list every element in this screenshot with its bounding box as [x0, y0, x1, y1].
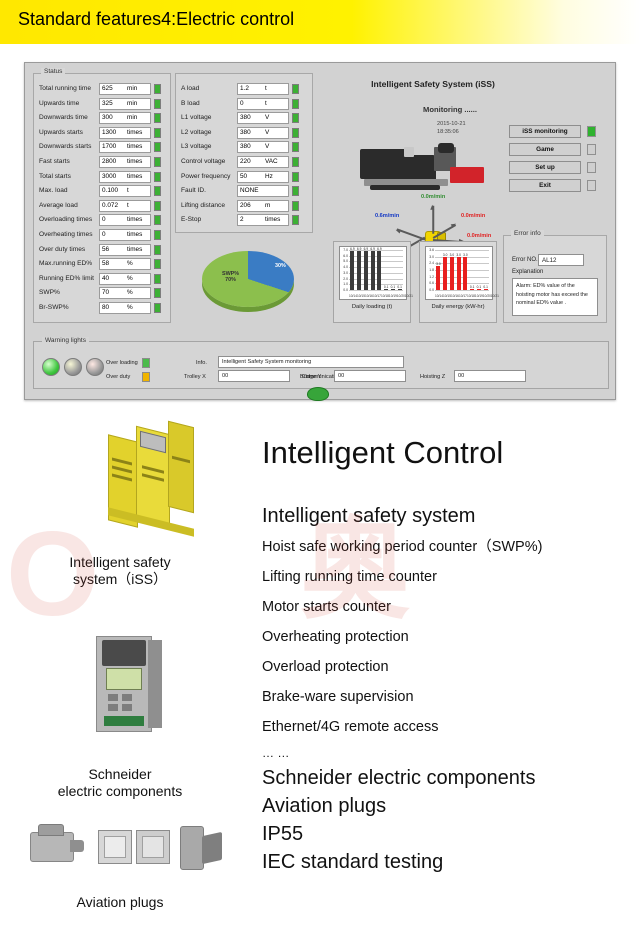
chart-x-tick: 10/19: [475, 294, 483, 298]
speed-label-right-up: 0.0m/min: [461, 213, 485, 219]
hmi-button-led: [587, 126, 596, 137]
chart-data-label: 3.0: [443, 253, 447, 257]
status-row-unit: m: [265, 202, 270, 209]
status-row-value: 40: [102, 275, 109, 282]
chart-data-label: 0.1: [384, 285, 388, 289]
title-banner: Standard features4:Electric control: [0, 0, 640, 44]
chart-bar: [364, 251, 368, 290]
status-row-value: 380: [240, 129, 251, 136]
coordinate-field[interactable]: 00: [218, 370, 290, 382]
status-row-label: L3 voltage: [181, 143, 211, 150]
daily-energy-plot: 3.63.02.41.81.20.60.03.03.03.03.03.00.10…: [425, 246, 493, 300]
status-row-label: Downwards starts: [39, 143, 91, 150]
status-row-led: [154, 303, 161, 313]
status-row-value: 0.072: [102, 202, 118, 209]
status-row-value: 380: [240, 114, 251, 121]
status-row-value: 58: [102, 260, 109, 267]
chart-y-tick: 3.0: [340, 271, 348, 275]
chart-x-tick: 10/17: [373, 294, 381, 298]
feature-ellipsis: … …: [262, 742, 634, 764]
chart-x-tick: 10/20: [483, 294, 491, 298]
status-row-led: [292, 172, 299, 182]
chart-bar: [457, 257, 461, 290]
status-row-led: [154, 259, 161, 269]
parameters-group: A load1.2tB load0tL1 voltage380VL2 volta…: [175, 73, 313, 233]
feature-item: Hoist safe working period counter（SWP%): [262, 532, 634, 562]
coordinate-label: Bridge Y: [300, 374, 321, 380]
status-row-label: E-Stop: [181, 216, 201, 223]
chart-data-label: 3.0: [436, 262, 440, 266]
chart-bar: [357, 251, 361, 290]
hmi-button-led: [587, 162, 596, 173]
status-row-value: 206: [240, 202, 251, 209]
product-caption-plugs-line1: Aviation plugs: [77, 894, 164, 910]
chart-y-tick: 5.0: [340, 259, 348, 263]
chart-y-tick: 7.0: [340, 248, 348, 252]
indicator-lamp-green[interactable]: [42, 358, 60, 376]
status-row-value: 625: [102, 85, 113, 92]
status-row-unit: %: [127, 260, 133, 267]
hmi-button-game[interactable]: Game: [509, 143, 581, 156]
chart-x-tick: 10/19: [389, 294, 397, 298]
chart-y-tick: 4.0: [340, 265, 348, 269]
chart-y-tick: 6.0: [340, 254, 348, 258]
status-row-label: L1 voltage: [181, 114, 211, 121]
hmi-button-exit[interactable]: Exit: [509, 179, 581, 192]
chart-data-label: 0.1: [470, 285, 474, 289]
swp-pie-chart: 30% SWP%70%: [180, 243, 325, 323]
product-caption-plugs: Aviation plugs: [10, 894, 230, 911]
status-row-value: 3000: [102, 173, 116, 180]
status-row-led: [154, 113, 161, 123]
pie-slice-label-swp: SWP%70%: [222, 271, 239, 283]
status-row-unit: t: [265, 100, 267, 107]
status-row-value: 380: [240, 143, 251, 150]
status-row-led: [154, 230, 161, 240]
status-row-unit: min: [127, 100, 137, 107]
chart-x-tick: 10/18: [467, 294, 475, 298]
chart-data-label: 6.9: [357, 247, 361, 251]
status-row-unit: times: [127, 143, 142, 150]
indicator-lamp-grey-2[interactable]: [86, 358, 104, 376]
chart-bar: [484, 289, 488, 290]
status-row-led: [292, 84, 299, 94]
status-row-value: 0: [102, 216, 106, 223]
status-row-led: [292, 128, 299, 138]
status-row-label: Control voltage: [181, 158, 225, 165]
chart-x-tick: 10/21: [491, 294, 499, 298]
status-row-value: 1300: [102, 129, 116, 136]
status-row-label: SWP%: [39, 289, 60, 296]
chart-y-tick: 1.0: [340, 282, 348, 286]
warning-label: Over loading: [106, 360, 138, 366]
status-row-field[interactable]: [99, 229, 151, 241]
hmi-button-iss-monitoring[interactable]: iSS monitoring: [509, 125, 581, 138]
status-row-led: [292, 186, 299, 196]
error-no-label: Error NO.: [512, 257, 538, 263]
status-row-label: Running ED% limit: [39, 275, 94, 282]
daily-energy-caption: Daily energy (kW-hr): [420, 304, 496, 310]
hmi-header-title: Intelligent Safety System (iSS): [343, 79, 523, 89]
feature-item: Motor starts counter: [262, 592, 634, 622]
monitoring-status-text: Monitoring ......: [385, 105, 515, 114]
coordinate-label: Hoisting Z: [420, 374, 445, 380]
status-row-label: Max.running ED%: [39, 260, 92, 267]
status-row-unit: V: [265, 129, 269, 136]
chart-y-tick: 1.2: [426, 275, 434, 279]
status-row-led: [154, 245, 161, 255]
feature-item: Overload protection: [262, 652, 634, 682]
product-caption-schneider: Schneider electric components: [10, 766, 230, 800]
chart-data-label: 0.1: [483, 285, 487, 289]
status-row-unit: V: [265, 143, 269, 150]
page-title: Standard features4:Electric control: [18, 9, 294, 30]
error-info-label: Error info: [511, 230, 544, 237]
status-row-value: 70: [102, 289, 109, 296]
chart-x-tick: 10/14: [435, 294, 443, 298]
speed-label-right: 0.0m/min: [467, 233, 491, 239]
chart-data-label: 0.1: [477, 285, 481, 289]
coordinate-field[interactable]: 00: [454, 370, 526, 382]
footer-item: Aviation plugs: [262, 792, 634, 820]
status-row-value: 325: [102, 100, 113, 107]
chart-bar: [377, 251, 381, 290]
chart-y-tick: 2.0: [340, 277, 348, 281]
status-row-label: A load: [181, 85, 199, 92]
chart-bar: [470, 289, 474, 290]
chart-x-tick: 10/15: [443, 294, 451, 298]
status-row-unit: times: [127, 231, 142, 238]
status-row-unit: Hz: [265, 173, 273, 180]
status-row-unit: times: [127, 246, 142, 253]
chart-x-tick: 10/17: [459, 294, 467, 298]
chart-data-label: 6.9: [370, 247, 374, 251]
warning-lights-label: Warning lights: [42, 337, 89, 344]
chart-y-tick: 0.0: [340, 288, 348, 292]
content-section: Intelligent safety system（iSS） Schneider…: [0, 404, 640, 950]
status-row-led: [154, 172, 161, 182]
chart-y-tick: 0.0: [426, 288, 434, 292]
chart-data-label: 3.0: [450, 253, 454, 257]
chart-bar: [450, 257, 454, 290]
status-row-value: 50: [240, 173, 247, 180]
daily-loading-plot: 7.06.05.04.03.02.01.00.06.96.96.96.96.90…: [339, 246, 407, 300]
chart-gridline: [435, 250, 489, 251]
product-caption-schneider-line1: Schneider: [88, 766, 151, 782]
chart-bar: [398, 289, 402, 290]
status-row-label: Fast starts: [39, 158, 70, 165]
status-row-label: L2 voltage: [181, 129, 211, 136]
warning-label: Over duty: [106, 374, 130, 380]
speed-label-left-up: 0.6m/min: [375, 213, 399, 219]
pie-slice-label-30: 30%: [275, 263, 286, 269]
hmi-knob[interactable]: [307, 387, 329, 401]
status-row-unit: min: [127, 85, 137, 92]
daily-energy-chart: 3.63.02.41.81.20.60.03.03.03.03.03.00.10…: [419, 241, 497, 323]
feature-list: Hoist safe working period counter（SWP%)L…: [262, 532, 634, 742]
status-row-value: 0: [240, 100, 244, 107]
status-row-led: [292, 201, 299, 211]
chart-bar: [391, 289, 395, 290]
status-group-label: Status: [41, 68, 65, 75]
status-row-unit: times: [127, 216, 142, 223]
status-row-unit: %: [127, 304, 133, 311]
chart-data-label: 3.0: [456, 253, 460, 257]
status-row-label: Total starts: [39, 173, 71, 180]
status-row-value: 220: [240, 158, 251, 165]
chart-y-tick: 3.0: [426, 255, 434, 259]
page-root: Standard features4:Electric control Stat…: [0, 0, 640, 950]
status-row-unit: t: [127, 202, 129, 209]
status-row-field[interactable]: [99, 214, 151, 226]
status-row-led: [154, 215, 161, 225]
hmi-button-set-up[interactable]: Set up: [509, 161, 581, 174]
chart-y-tick: 0.6: [426, 281, 434, 285]
status-row-label: Total running time: [39, 85, 91, 92]
chart-data-label: 0.1: [397, 285, 401, 289]
product-caption-iss: Intelligent safety system（iSS）: [10, 554, 230, 588]
status-row-unit: t: [127, 187, 129, 194]
status-row-led: [154, 99, 161, 109]
status-row-led: [154, 201, 161, 211]
status-row-unit: times: [127, 158, 142, 165]
hmi-button-led: [587, 180, 596, 191]
daily-loading-chart: 7.06.05.04.03.02.01.00.06.96.96.96.96.90…: [333, 241, 411, 323]
status-row-label: Power frequency: [181, 173, 230, 180]
status-row-unit: VAC: [265, 158, 278, 165]
chart-x-tick: 10/16: [451, 294, 459, 298]
product-caption-iss-line1: Intelligent safety: [69, 554, 170, 570]
status-row-value: 1.2: [240, 85, 249, 92]
chart-gridline: [435, 290, 489, 291]
status-row-unit: %: [127, 275, 133, 282]
feature-item: Overheating protection: [262, 622, 634, 652]
chart-x-tick: 10/14: [349, 294, 357, 298]
chart-data-label: 3.0: [463, 253, 467, 257]
status-row-led: [154, 186, 161, 196]
status-row-led: [292, 113, 299, 123]
status-row-unit: min: [127, 114, 137, 121]
indicator-lamp-grey-1[interactable]: [64, 358, 82, 376]
monitoring-date: 2015-10-21: [437, 121, 466, 127]
footer-item: IEC standard testing: [262, 848, 634, 876]
status-row-unit: times: [127, 129, 142, 136]
feature-text-column: Intelligent Control Intelligent safety s…: [262, 434, 634, 876]
status-row-unit: %: [127, 289, 133, 296]
status-row-led: [292, 99, 299, 109]
status-row-value: 56: [102, 246, 109, 253]
status-row-value: 1700: [102, 143, 116, 150]
status-row-led: [292, 157, 299, 167]
feature-item: Ethernet/4G remote access: [262, 712, 634, 742]
status-row-label: Average load: [39, 202, 78, 209]
coordinate-field[interactable]: 00: [334, 370, 406, 382]
chart-y-tick: 1.8: [426, 268, 434, 272]
daily-loading-caption: Daily loading (t): [334, 304, 410, 310]
info-value-field[interactable]: Intelligent Safety System monitoring: [218, 356, 404, 368]
chart-y-tick: 3.6: [426, 248, 434, 252]
pie-graphic: [202, 251, 294, 307]
schneider-inverter-image: [96, 636, 168, 732]
main-subheading: Intelligent safety system: [262, 500, 634, 532]
status-group: Status Total running time625minUpwards t…: [33, 73, 171, 323]
chart-x-tick: 10/21: [405, 294, 413, 298]
status-row-led: [154, 142, 161, 152]
status-row-label: Over duty times: [39, 246, 85, 253]
footer-item: IP55: [262, 820, 634, 848]
status-row-label: Overheating times: [39, 231, 93, 238]
chart-bar: [371, 251, 375, 290]
footer-list: Schneider electric componentsAviation pl…: [262, 764, 634, 876]
speed-label-up: 0.0m/min: [421, 194, 445, 200]
status-row-label: Lifting distance: [181, 202, 225, 209]
status-row-led: [154, 157, 161, 167]
status-row-label: Upwards time: [39, 100, 79, 107]
status-row-unit: V: [265, 114, 269, 121]
chart-bar: [436, 266, 440, 290]
status-row-led: [154, 288, 161, 298]
status-row-label: B load: [181, 100, 200, 107]
status-row-led: [292, 142, 299, 152]
status-row-value: 300: [102, 114, 113, 121]
hmi-screenshot-panel: Status Total running time625minUpwards t…: [24, 62, 616, 400]
status-row-field[interactable]: [237, 98, 289, 110]
chart-x-tick: 10/20: [397, 294, 405, 298]
error-no-value[interactable]: AL12: [538, 254, 584, 266]
main-heading: Intelligent Control: [262, 434, 634, 472]
chart-bar: [443, 257, 447, 290]
chart-bar: [384, 289, 388, 290]
chart-x-tick: 10/16: [365, 294, 373, 298]
status-row-label: Fault ID.: [181, 187, 206, 194]
product-caption-schneider-line2: electric components: [58, 783, 183, 799]
warning-led: [142, 358, 150, 368]
error-info-group: Error info Error NO. AL12 Explanation Al…: [503, 235, 607, 323]
status-row-unit: t: [265, 85, 267, 92]
error-explanation-label: Explanation: [512, 269, 543, 275]
status-row-label: Br-SWP%: [39, 304, 69, 311]
status-row-label: Upwards starts: [39, 129, 83, 136]
feature-item: Brake-ware supervision: [262, 682, 634, 712]
chart-bar: [350, 251, 354, 290]
status-row-value: NONE: [240, 187, 258, 194]
status-row-led: [154, 128, 161, 138]
chart-bar: [477, 289, 481, 290]
status-row-value: 0: [102, 231, 106, 238]
status-row-value: 0.100: [102, 187, 118, 194]
warning-lights-bar: Warning lights Over loadingOver dutySWP%…: [33, 341, 609, 389]
warning-led: [142, 372, 150, 382]
status-row-led: [154, 84, 161, 94]
status-row-label: Downwards time: [39, 114, 88, 121]
status-row-unit: times: [127, 173, 142, 180]
error-explanation-text: Alarm: ED% value of the hoisting motor h…: [512, 278, 598, 316]
chart-x-tick: 10/18: [381, 294, 389, 298]
chart-data-label: 6.9: [364, 247, 368, 251]
coordinate-label: Trolley X: [184, 374, 206, 380]
status-row-value: 2800: [102, 158, 116, 165]
status-row-led: [154, 274, 161, 284]
chart-bar: [463, 257, 467, 290]
aviation-plugs-image: [20, 822, 230, 884]
status-row-label: Overloading times: [39, 216, 92, 223]
feature-item: Lifting running time counter: [262, 562, 634, 592]
footer-item: Schneider electric components: [262, 764, 634, 792]
status-row-field[interactable]: [237, 214, 289, 226]
chart-data-label: 6.9: [377, 247, 381, 251]
chart-data-label: 0.1: [391, 285, 395, 289]
monitoring-time: 18:35:06: [437, 129, 459, 135]
iss-module-image: [100, 424, 210, 534]
chart-y-tick: 2.4: [426, 261, 434, 265]
chart-gridline: [349, 290, 403, 291]
info-label: Info.: [196, 360, 207, 366]
chart-x-tick: 10/15: [357, 294, 365, 298]
hmi-button-led: [587, 144, 596, 155]
status-row-value: 80: [102, 304, 109, 311]
product-caption-iss-line2: system（iSS）: [73, 571, 167, 587]
status-row-unit: times: [265, 216, 280, 223]
status-row-value: 2: [240, 216, 244, 223]
status-row-label: Max. load: [39, 187, 68, 194]
status-row-led: [292, 215, 299, 225]
chart-data-label: 6.9: [350, 247, 354, 251]
